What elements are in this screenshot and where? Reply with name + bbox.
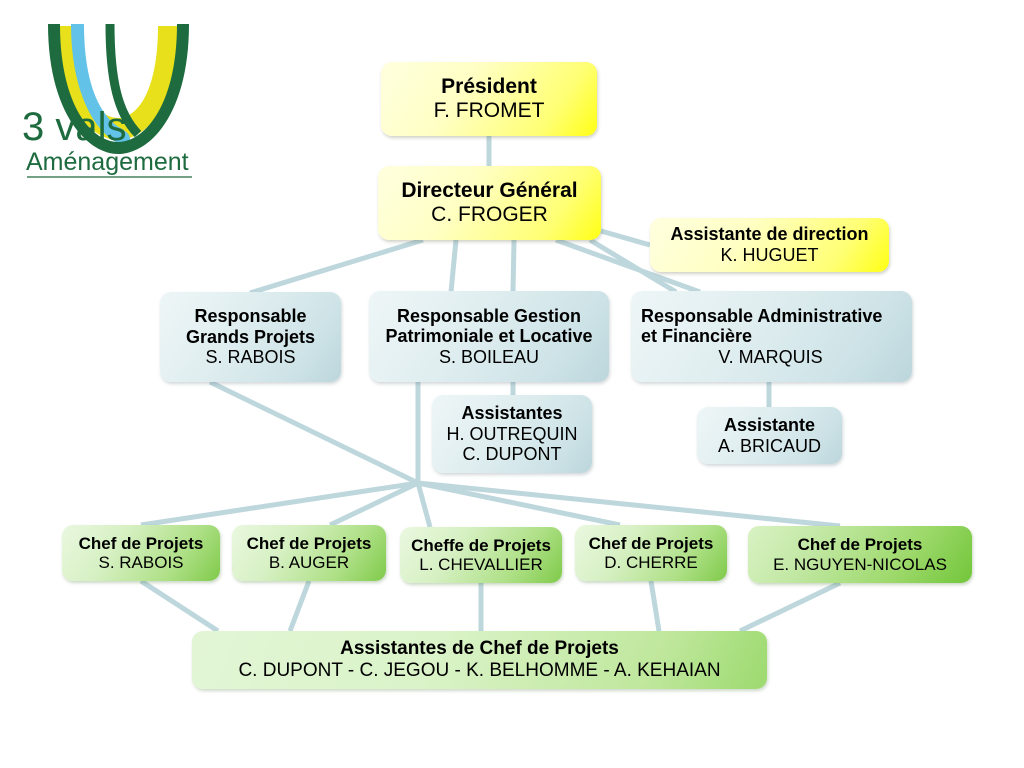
node-responsable-administrative-financiere[interactable]: Responsable Administrative et Financière… [631,291,912,382]
edge-grands-hub [210,382,418,483]
edge-cp2-assist [290,581,309,631]
node-chef-de-projets-5[interactable]: Chef de Projets E. NGUYEN-NICOLAS [748,526,972,583]
node-assistante-de-direction-role: Assistante de direction [650,224,889,245]
node-chef-de-projets-1-person: S. RABOIS [62,553,220,572]
node-assistantes-de-chef-de-projets[interactable]: Assistantes de Chef de Projets C. DUPONT… [192,631,767,689]
node-assistantes-gestion-person-1: H. OUTREQUIN [432,424,592,445]
node-assistantes-gestion-person-2: C. DUPONT [432,444,592,465]
node-responsable-gestion-patrimoniale[interactable]: Responsable Gestion Patrimoniale et Loca… [369,291,609,382]
node-president-role: Président [381,75,597,99]
node-assistante-de-direction-person: K. HUGUET [650,245,889,266]
node-cheffe-de-projets-3-person: L. CHEVALLIER [400,555,562,574]
node-responsable-administrative-person: V. MARQUIS [641,347,912,368]
node-responsable-grands-projets-role-line2: Grands Projets [160,327,341,348]
edge-dg-gestion [451,240,456,292]
logo-name-primary: 3 vals [22,105,127,149]
node-president-person: F. FROMET [381,99,597,123]
organization-chart: 3 vals Aménagement Valorisons notre terr… [0,0,1024,768]
edge-cp5-assist [740,583,840,631]
node-cheffe-de-projets-3-role: Cheffe de Projets [400,536,562,555]
node-chef-de-projets-5-role: Chef de Projets [748,535,972,554]
node-assistantes-de-chef-de-projets-role: Assistantes de Chef de Projets [192,638,767,660]
node-president[interactable]: Président F. FROMET [381,62,597,136]
node-chef-de-projets-4[interactable]: Chef de Projets D. CHERRE [575,525,727,581]
node-directeur-general[interactable]: Directeur Général C. FROGER [378,166,601,240]
node-assistante-administrative-role: Assistante [697,415,842,436]
edge-dg-assist-dir [601,231,650,245]
node-chef-de-projets-2[interactable]: Chef de Projets B. AUGER [232,525,386,581]
node-chef-de-projets-2-person: B. AUGER [232,553,386,572]
edge-cp1-assist [141,581,218,631]
node-responsable-gestion-role-line2: Patrimoniale et Locative [369,326,609,347]
node-chef-de-projets-5-person: E. NGUYEN-NICOLAS [748,555,972,574]
node-responsable-grands-projets-person: S. RABOIS [160,347,341,368]
node-chef-de-projets-1[interactable]: Chef de Projets S. RABOIS [62,525,220,581]
node-assistantes-gestion-role: Assistantes [432,403,592,424]
edge-dg-grands [250,240,423,293]
edge-dg-gestion-2 [513,240,514,292]
node-directeur-general-role: Directeur Général [378,179,601,203]
node-responsable-grands-projets[interactable]: Responsable Grands Projets S. RABOIS [160,292,341,382]
node-chef-de-projets-4-person: D. CHERRE [575,553,727,572]
edge-hub-cp4 [418,483,620,525]
node-chef-de-projets-4-role: Chef de Projets [575,534,727,553]
edge-cp4-assist [651,581,659,631]
node-cheffe-de-projets-3[interactable]: Cheffe de Projets L. CHEVALLIER [400,527,562,583]
node-assistante-administrative[interactable]: Assistante A. BRICAUD [697,407,842,464]
node-responsable-grands-projets-role-line1: Responsable [160,306,341,327]
node-responsable-administrative-role-line1: Responsable Administrative [641,306,912,327]
node-responsable-gestion-role-line1: Responsable Gestion [369,306,609,327]
node-responsable-gestion-person: S. BOILEAU [369,347,609,368]
node-chef-de-projets-2-role: Chef de Projets [232,534,386,553]
node-assistante-de-direction[interactable]: Assistante de direction K. HUGUET [650,218,889,272]
node-assistantes-gestion[interactable]: Assistantes H. OUTREQUIN C. DUPONT [432,395,592,473]
edge-hub-cp3 [418,483,430,527]
logo-name-secondary: Aménagement [26,148,189,176]
node-directeur-general-person: C. FROGER [378,203,601,227]
node-assistante-administrative-person: A. BRICAUD [697,436,842,457]
edge-hub-cp5 [418,483,840,526]
node-responsable-administrative-role-line2: et Financière [641,326,912,347]
company-logo: 3 vals Aménagement Valorisons notre terr… [14,18,200,178]
node-assistantes-de-chef-de-projets-person: C. DUPONT - C. JEGOU - K. BELHOMME - A. … [192,660,767,682]
node-chef-de-projets-1-role: Chef de Projets [62,534,220,553]
